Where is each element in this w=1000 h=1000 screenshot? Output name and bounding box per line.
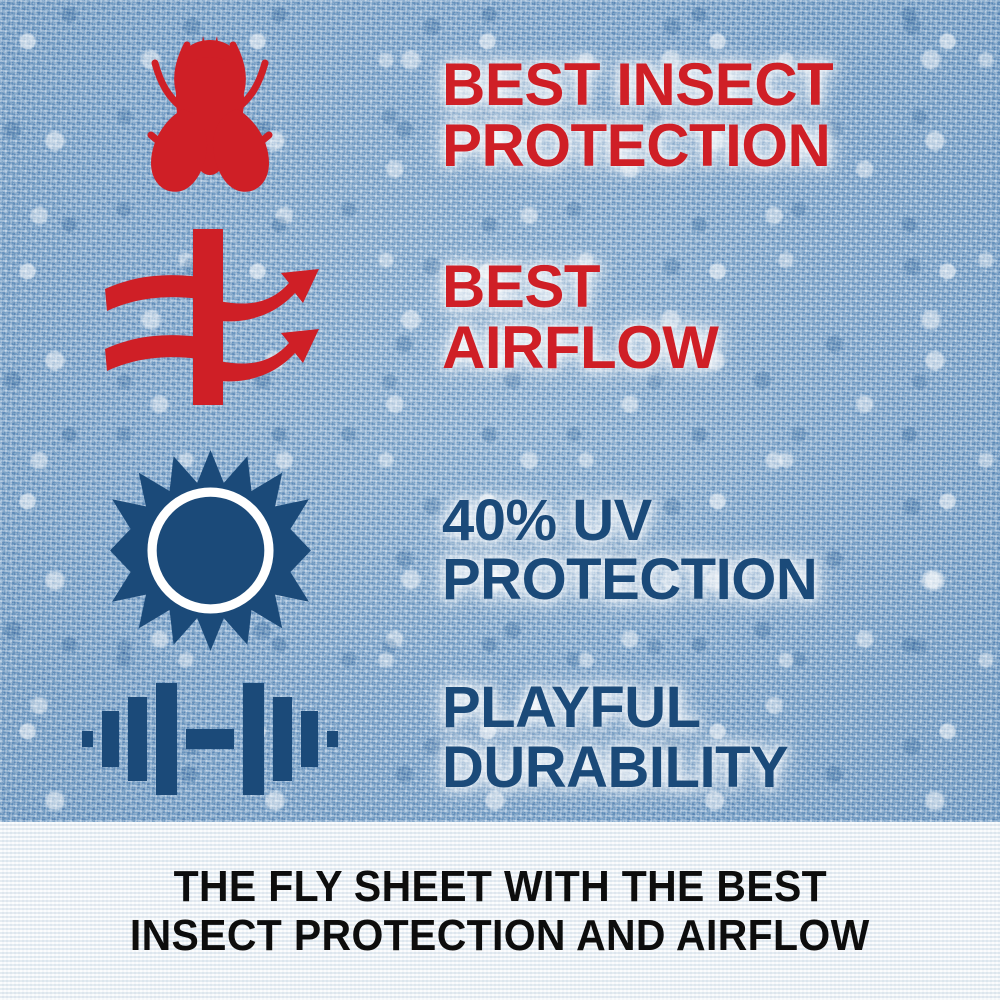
- feature-label-line-2: PROTECTION: [442, 550, 1000, 609]
- feature-label-line-2: DURABILITY: [442, 738, 1000, 797]
- feature-label-line-2: AIRFLOW: [442, 317, 1000, 378]
- caption-line-2: INSECT PROTECTION AND AIRFLOW: [130, 911, 870, 960]
- sun-uv-icon: [108, 448, 313, 653]
- dumbbell-left-plate-mid: [128, 697, 147, 781]
- dumbbell-right-nub: [327, 731, 338, 747]
- feature-text-cell: BEST INSECT PROTECTION: [420, 54, 1000, 176]
- feature-text-cell: PLAYFUL DURABILITY: [420, 678, 1000, 796]
- dumbbell-left-plate-inner: [156, 683, 177, 795]
- feature-text-cell: BEST AIRFLOW: [420, 256, 1000, 378]
- feature-icon-cell: [0, 448, 420, 653]
- airflow-inbound-stream-bottom: [105, 335, 199, 371]
- dumbbell-left-plate-outer: [102, 711, 119, 767]
- dumbbell-icon: [80, 673, 340, 803]
- feature-row-insect-protection: BEST INSECT PROTECTION: [0, 20, 1000, 210]
- dumbbell-left-nub: [82, 731, 93, 747]
- feature-icon-cell: [0, 23, 420, 208]
- dumbbell-right-plate-outer: [301, 711, 318, 767]
- feature-icon-cell: [0, 673, 420, 803]
- airflow-outbound-arrow-bottom: [219, 329, 319, 381]
- feature-label-line-1: PLAYFUL: [442, 678, 1000, 737]
- feature-label-line-2: PROTECTION: [442, 115, 1000, 176]
- airflow-inbound-stream-top: [105, 275, 199, 311]
- feature-row-durability: PLAYFUL DURABILITY: [0, 650, 1000, 825]
- airflow-outbound-arrow-top: [219, 269, 319, 321]
- feature-icon-cell: [0, 227, 420, 407]
- airflow-barrier-bar: [193, 229, 223, 405]
- feature-row-airflow: BEST AIRFLOW: [0, 222, 1000, 412]
- feature-label-line-1: BEST INSECT: [442, 54, 1000, 115]
- sunburst-rays: [110, 450, 311, 651]
- airflow-icon: [95, 227, 325, 407]
- feature-row-uv-protection: 40% UV PROTECTION: [0, 440, 1000, 660]
- caption-line-1: THE FLY SHEET WITH THE BEST: [173, 862, 826, 911]
- dumbbell-right-plate-mid: [273, 697, 292, 781]
- feature-label-line-1: BEST: [442, 256, 1000, 317]
- feature-text-cell: 40% UV PROTECTION: [420, 491, 1000, 609]
- fly-icon: [125, 23, 295, 208]
- dumbbell-bar: [186, 729, 234, 749]
- caption-banner: THE FLY SHEET WITH THE BEST INSECT PROTE…: [0, 822, 1000, 1000]
- infographic-page: BEST INSECT PROTECTION BEST AIRFLOW: [0, 0, 1000, 1000]
- feature-label-line-1: 40% UV: [442, 491, 1000, 550]
- dumbbell-right-plate-inner: [243, 683, 264, 795]
